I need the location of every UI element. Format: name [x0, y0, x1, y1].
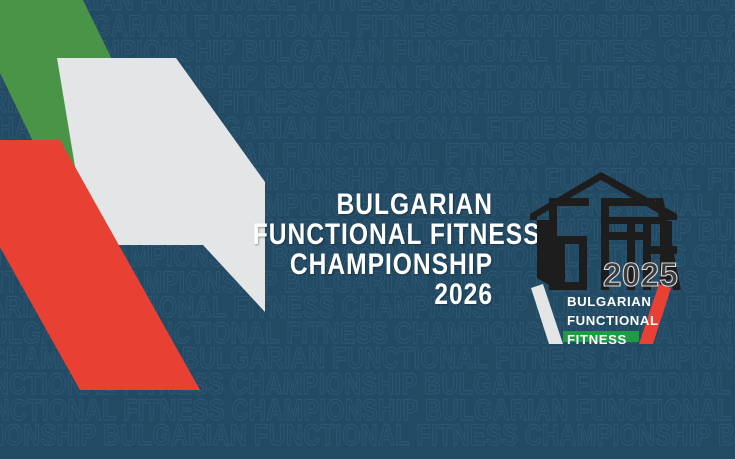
logo-year: 2025 — [603, 256, 678, 293]
logo-line-3: FITNESS — [567, 332, 627, 344]
page-title: BULGARIAN FUNCTIONAL FITNESS CHAMPIONSHI… — [253, 190, 493, 310]
title-line-year: 2026 — [253, 280, 493, 310]
championship-logo: 2025 BULGARIAN FUNCTIONAL FITNESS CHAMPI… — [505, 158, 697, 344]
title-line-2: FUNCTIONAL FITNESS — [253, 220, 493, 250]
logo-hex-white-stroke — [531, 284, 563, 344]
title-line-1: BULGARIAN — [253, 190, 493, 220]
logo-line-1: BULGARIAN — [567, 294, 652, 309]
logo-line-2: FUNCTIONAL — [567, 313, 659, 328]
poster-canvas: BULGARIAN FUNCTIONAL FITNESS CHAMPIONSHI… — [0, 0, 735, 459]
title-line-3: CHAMPIONSHIP — [253, 250, 493, 280]
